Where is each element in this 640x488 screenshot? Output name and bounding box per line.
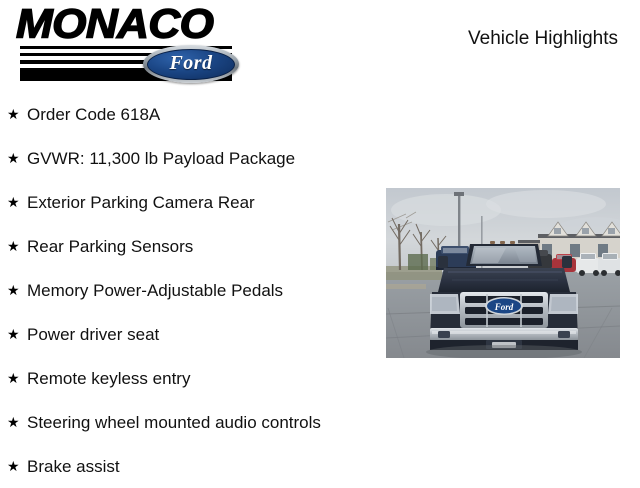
ford-oval-inner: Ford <box>147 49 235 80</box>
ford-oval-icon: Ford <box>143 45 239 83</box>
list-item: ★ Memory Power-Adjustable Pedals <box>0 268 380 312</box>
list-item-label: Steering wheel mounted audio controls <box>27 412 321 433</box>
dealer-logo: MONACO SINCE 1922 Ford <box>12 4 242 86</box>
star-icon: ★ <box>7 371 20 385</box>
star-icon: ★ <box>7 195 20 209</box>
list-item-label: Exterior Parking Camera Rear <box>27 192 255 213</box>
vehicle-photo: Ford <box>386 188 620 358</box>
star-icon: ★ <box>7 459 20 473</box>
star-icon: ★ <box>7 239 20 253</box>
list-item: ★ Power driver seat <box>0 312 380 356</box>
list-item-label: Power driver seat <box>27 324 159 345</box>
list-item: ★ Brake assist <box>0 444 380 488</box>
list-item-label: Rear Parking Sensors <box>27 236 193 257</box>
page-header: MONACO SINCE 1922 Ford Vehicle Highlight… <box>0 0 640 90</box>
svg-text:Ford: Ford <box>494 302 514 312</box>
list-item-label: Order Code 618A <box>27 104 160 125</box>
star-icon: ★ <box>7 327 20 341</box>
dealer-wordmark: MONACO <box>16 4 213 46</box>
page-title: Vehicle Highlights <box>468 27 618 51</box>
list-item-label: Brake assist <box>27 456 120 477</box>
list-item: ★ Rear Parking Sensors <box>0 224 380 268</box>
list-item: ★ Remote keyless entry <box>0 356 380 400</box>
list-item: ★ Order Code 618A <box>0 92 380 136</box>
list-item: ★ Steering wheel mounted audio controls <box>0 400 380 444</box>
list-item-label: GVWR: 11,300 lb Payload Package <box>27 148 295 169</box>
list-item: ★ Exterior Parking Camera Rear <box>0 180 380 224</box>
ford-script-text: Ford <box>169 53 212 73</box>
list-item-label: Remote keyless entry <box>27 368 190 389</box>
list-item-label: Memory Power-Adjustable Pedals <box>27 280 283 301</box>
list-item: ★ GVWR: 11,300 lb Payload Package <box>0 136 380 180</box>
star-icon: ★ <box>7 415 20 429</box>
star-icon: ★ <box>7 107 20 121</box>
vehicle-photo-illustration: Ford <box>386 188 620 358</box>
star-icon: ★ <box>7 283 20 297</box>
vehicle-highlights-list: ★ Order Code 618A ★ GVWR: 11,300 lb Payl… <box>0 92 380 488</box>
star-icon: ★ <box>7 151 20 165</box>
